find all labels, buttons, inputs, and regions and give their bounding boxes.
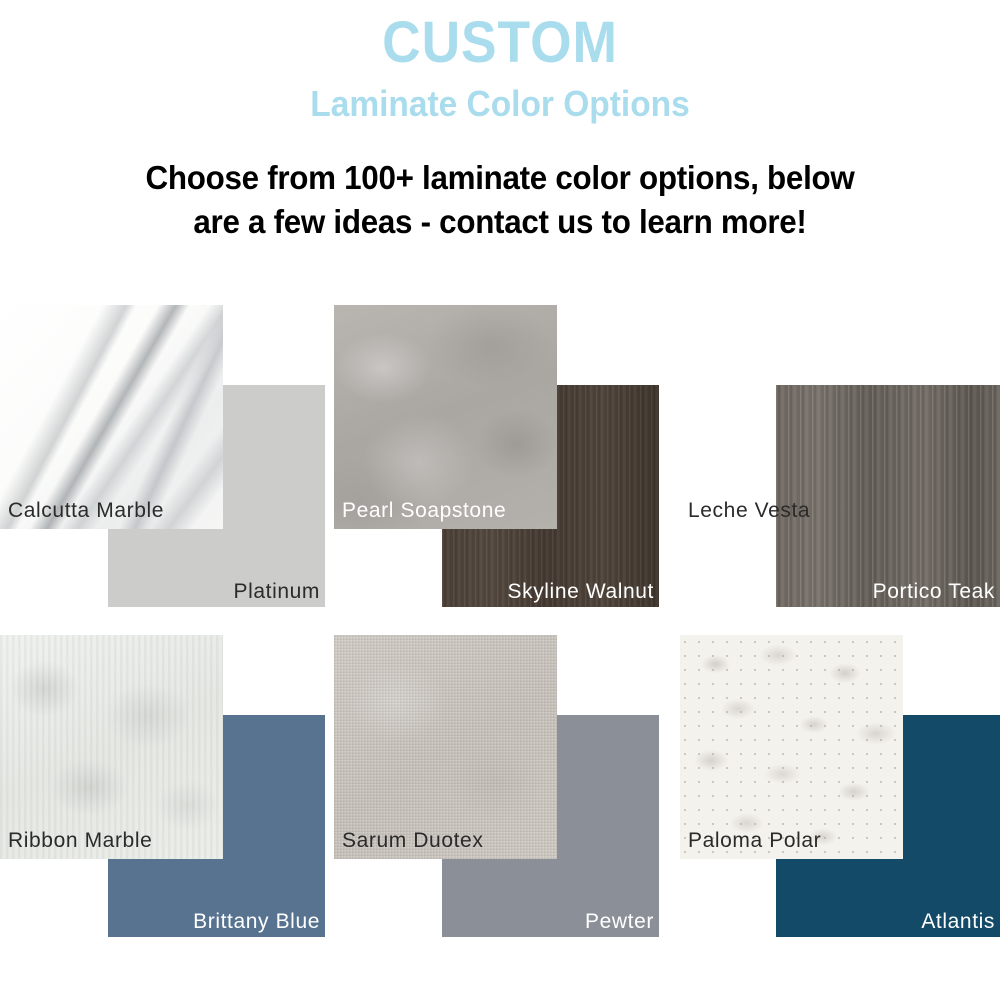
- swatch-texture: [334, 635, 557, 859]
- swatch-group: Atlantis Paloma Polar: [666, 626, 1000, 956]
- swatch-label: Brittany Blue: [193, 910, 320, 934]
- swatch-ribbon-marble[interactable]: Ribbon Marble: [0, 635, 223, 859]
- swatch-texture: [680, 305, 903, 529]
- swatch-texture: [0, 635, 223, 859]
- swatch-label: Sarum Duotex: [342, 829, 483, 853]
- swatch-label: Calcutta Marble: [8, 499, 164, 523]
- swatch-label: Pearl Soapstone: [342, 499, 506, 523]
- swatch-label: Leche Vesta: [688, 499, 810, 523]
- swatch-calcutta-marble[interactable]: Calcutta Marble: [0, 305, 223, 529]
- swatch-group: Pewter Sarum Duotex: [334, 626, 668, 956]
- swatch-label: Atlantis: [921, 910, 995, 934]
- swatch-group: Portico Teak Leche Vesta: [666, 296, 1000, 626]
- swatch-label: Ribbon Marble: [8, 829, 152, 853]
- swatch-pearl-soapstone[interactable]: Pearl Soapstone: [334, 305, 557, 529]
- swatch-texture: [0, 305, 223, 529]
- swatch-label: Skyline Walnut: [507, 580, 654, 604]
- intro-line-2: are a few ideas - contact us to learn mo…: [73, 200, 928, 244]
- swatch-label: Pewter: [585, 910, 654, 934]
- intro-text: Choose from 100+ laminate color options,…: [50, 156, 950, 244]
- laminate-swatch-grid: Platinum Calcutta Marble Skyline Walnut …: [0, 296, 1000, 1000]
- swatch-label: Paloma Polar: [688, 829, 821, 853]
- swatch-label: Platinum: [233, 580, 320, 604]
- swatch-group: Brittany Blue Ribbon Marble: [0, 626, 334, 956]
- swatch-leche-vesta[interactable]: Leche Vesta: [680, 305, 903, 529]
- swatch-texture: [334, 305, 557, 529]
- swatch-texture: [680, 635, 903, 859]
- page-title: CUSTOM: [40, 14, 960, 72]
- page-header: CUSTOM Laminate Color Options: [0, 0, 1000, 122]
- swatch-label: Portico Teak: [873, 580, 995, 604]
- swatch-group: Platinum Calcutta Marble: [0, 296, 334, 626]
- page-subtitle: Laminate Color Options: [35, 86, 965, 122]
- swatch-paloma-polar[interactable]: Paloma Polar: [680, 635, 903, 859]
- intro-line-1: Choose from 100+ laminate color options,…: [73, 156, 928, 200]
- swatch-group: Skyline Walnut Pearl Soapstone: [334, 296, 668, 626]
- swatch-sarum-duotex[interactable]: Sarum Duotex: [334, 635, 557, 859]
